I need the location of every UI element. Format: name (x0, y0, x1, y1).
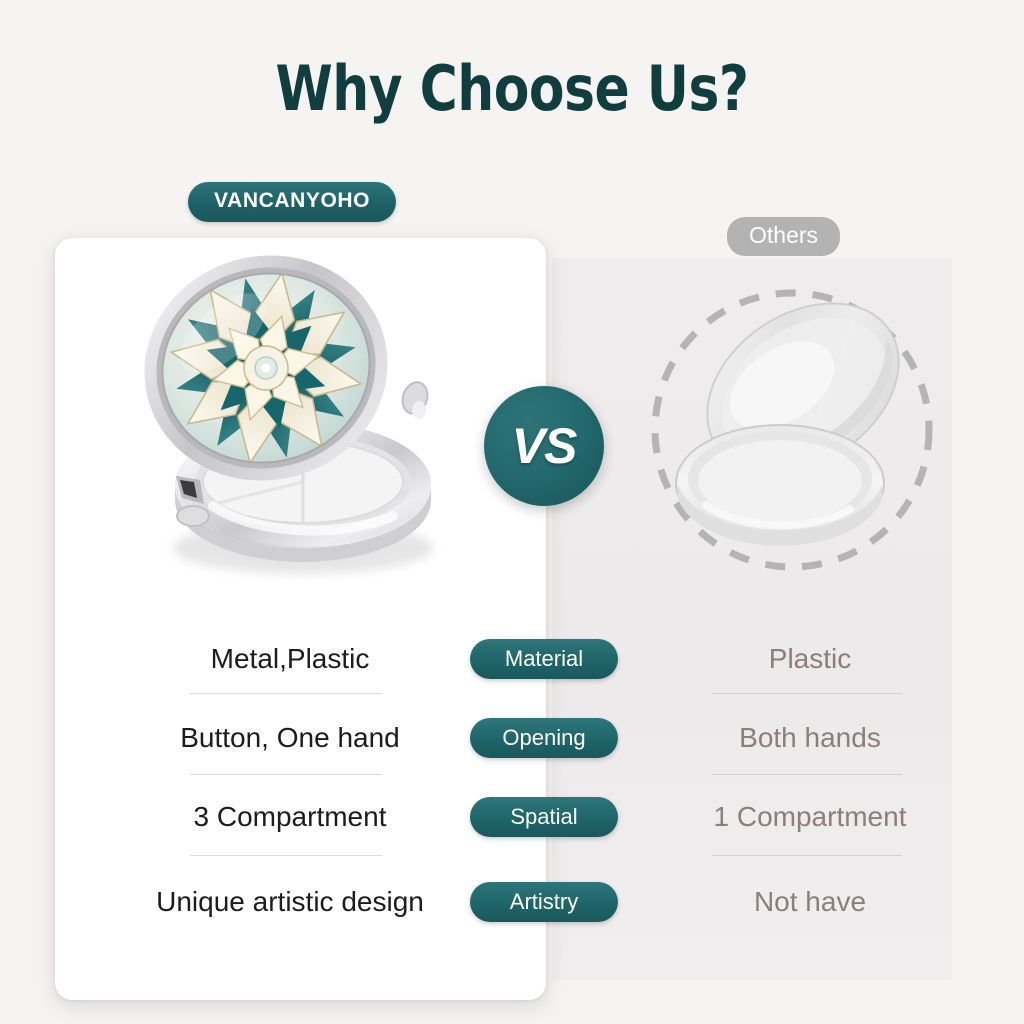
others-value-material: Plastic (665, 633, 955, 685)
others-badge: Others (727, 217, 840, 256)
brand-badge: VANCANYOHO (188, 182, 396, 222)
attribute-pill-spatial[interactable]: Spatial (470, 797, 618, 837)
others-value-spatial: 1 Compartment (665, 791, 955, 843)
comparison-row: Unique artistic design Artistry Not have (0, 876, 1024, 928)
comparison-row: 3 Compartment Spatial 1 Compartment (0, 791, 1024, 843)
vs-badge: VS (484, 386, 604, 506)
vs-label: VS (512, 417, 577, 475)
row-divider-right (712, 774, 902, 775)
attribute-pill-material[interactable]: Material (470, 639, 618, 679)
attribute-pill-opening[interactable]: Opening (470, 718, 618, 758)
brand-product-image (118, 248, 478, 588)
row-divider-left (190, 693, 382, 694)
others-value-opening: Both hands (665, 712, 955, 764)
others-value-artistry: Not have (665, 876, 955, 928)
row-divider-right (712, 693, 902, 694)
comparison-row: Metal,Plastic Material Plastic (0, 633, 1024, 685)
brand-value-artistry: Unique artistic design (120, 876, 460, 928)
attribute-pill-artistry[interactable]: Artistry (470, 882, 618, 922)
page-title: Why Choose Us? (36, 52, 988, 125)
row-divider-left (190, 855, 382, 856)
brand-value-material: Metal,Plastic (120, 633, 460, 685)
brand-value-spatial: 3 Compartment (120, 791, 460, 843)
brand-value-opening: Button, One hand (120, 712, 460, 764)
row-divider-left (190, 774, 382, 775)
others-product-image (640, 278, 944, 582)
comparison-row: Button, One hand Opening Both hands (0, 712, 1024, 764)
row-divider-right (712, 855, 902, 856)
